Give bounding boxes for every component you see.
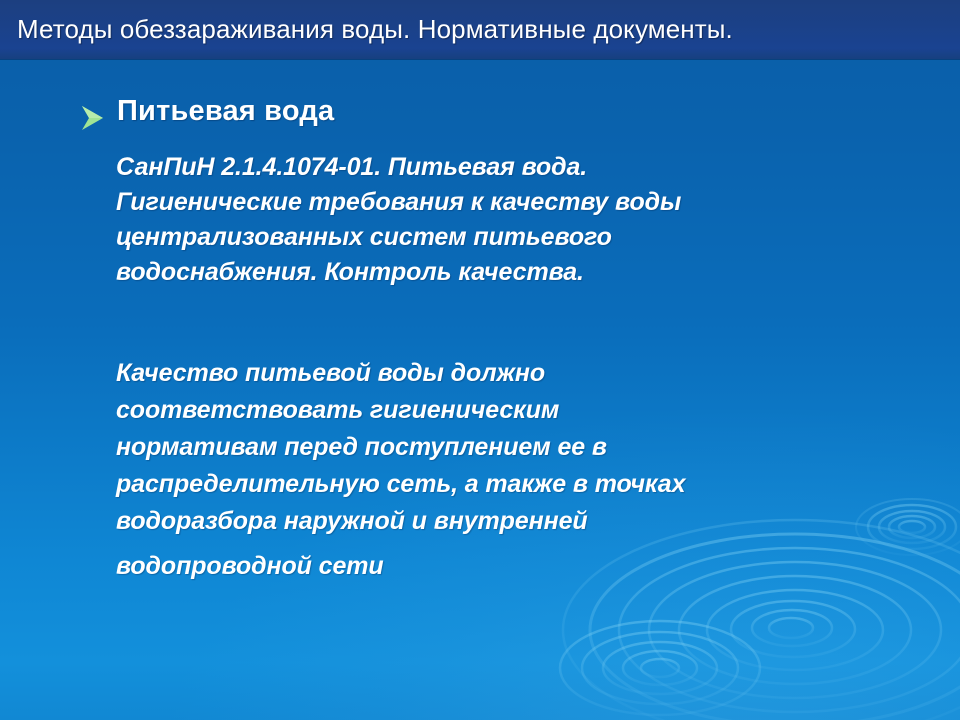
paragraph-sanpin-reference: СанПиН 2.1.4.1074-01. Питьевая вода. Гиг… [116,150,906,290]
arrowhead-bullet-icon [78,102,106,134]
paragraph-quality-requirement: Качество питьевой воды должно соответств… [116,355,906,585]
bullet-item-label: Питьевая вода [117,97,334,126]
paragraph-line: соответствовать гигиеническим [116,392,906,429]
page-title: Методы обеззараживания воды. Нормативные… [17,14,733,45]
paragraph-line: водоразбора наружной и внутренней [116,503,906,540]
paragraph-line: Качество питьевой воды должно [116,355,906,392]
paragraph-line: водопроводной сети [116,548,906,585]
paragraph-line: водоснабжения. Контроль качества. [116,255,906,290]
slide-title-bar: Методы обеззараживания воды. Нормативные… [0,0,960,59]
paragraph-line: СанПиН 2.1.4.1074-01. Питьевая вода. [116,150,906,185]
paragraph-line: нормативам перед поступлением ее в [116,429,906,466]
bullet-item-drinking-water: Питьевая вода [78,97,334,134]
slide-canvas: Методы обеззараживания воды. Нормативные… [0,0,960,720]
slide-content: Питьевая вода СанПиН 2.1.4.1074-01. Пить… [0,59,960,720]
paragraph-line: распределительную сеть, а также в точках [116,466,906,503]
paragraph-line: централизованных систем питьевого [116,220,906,255]
paragraph-line: Гигиенические требования к качеству воды [116,185,906,220]
